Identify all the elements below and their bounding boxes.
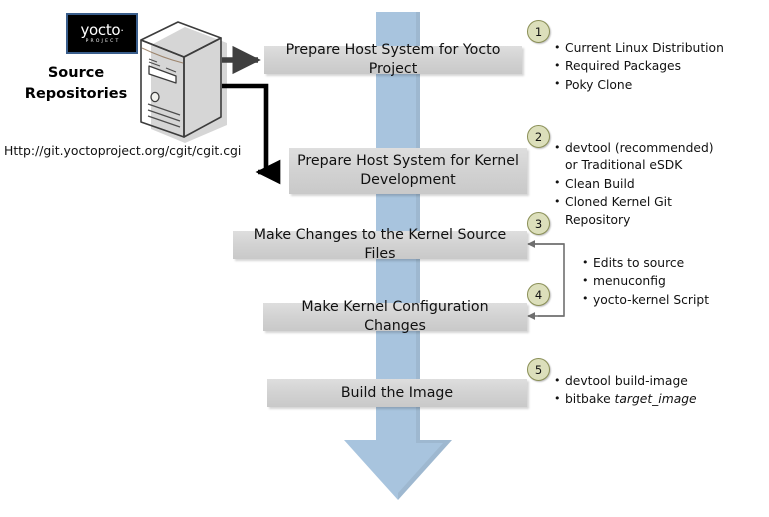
- step-number-circle-4: 4: [527, 283, 550, 306]
- note-item-italic-arg: target_image: [615, 392, 697, 406]
- process-box-step-1[interactable]: Prepare Host System for Yocto Project: [264, 46, 522, 74]
- process-box-step-4-label: Make Kernel Configuration Changes: [271, 298, 519, 335]
- process-box-step-2[interactable]: Prepare Host System for Kernel Developme…: [289, 148, 527, 194]
- process-box-step-3-label: Make Changes to the Kernel Source Files: [241, 226, 519, 263]
- connector-server-to-step2: [222, 86, 266, 172]
- step-number-1-text: 1: [535, 25, 542, 39]
- notes-step-5: devtool build-image bitbake target_image: [552, 373, 752, 410]
- process-box-step-5-label: Build the Image: [341, 384, 453, 403]
- yocto-project-logo: yocto· PROJECT: [66, 13, 138, 54]
- notes-step-3-and-4-list: Edits to source menuconfig yocto-kernel …: [580, 255, 769, 309]
- step-number-3-text: 3: [535, 217, 542, 231]
- source-repository-url: Http://git.yoctoproject.org/cgit/cgit.cg…: [4, 143, 240, 158]
- note-item: Cloned Kernel Git Repository: [565, 194, 720, 229]
- note-item: Edits to source: [593, 255, 769, 272]
- process-box-step-4[interactable]: Make Kernel Configuration Changes: [263, 303, 527, 331]
- process-box-step-5[interactable]: Build the Image: [267, 379, 527, 407]
- note-item: yocto-kernel Script: [593, 292, 769, 309]
- server-icon: [141, 22, 227, 143]
- yocto-logo-dot: ·: [120, 24, 123, 37]
- notes-step-1-list: Current Linux Distribution Required Pack…: [552, 40, 762, 94]
- note-item-text: bitbake: [565, 392, 615, 406]
- yocto-logo-wordmark: yocto·: [80, 23, 123, 38]
- yocto-logo-word-text: yocto: [80, 21, 120, 39]
- notes-step-1: Current Linux Distribution Required Pack…: [552, 40, 762, 95]
- step-number-5-text: 5: [535, 363, 542, 377]
- step-number-circle-1: 1: [527, 20, 550, 43]
- process-box-step-3[interactable]: Make Changes to the Kernel Source Files: [233, 231, 527, 259]
- diagram-canvas: yocto· PROJECT Source Repositories Http:…: [0, 0, 769, 517]
- note-item: menuconfig: [593, 273, 769, 290]
- source-label-line-1: Source: [12, 63, 140, 84]
- notes-step-2: devtool (recommended) or Traditional eSD…: [552, 140, 720, 230]
- note-item-with-emphasis: bitbake target_image: [565, 391, 752, 408]
- yocto-logo-subtitle: PROJECT: [86, 40, 121, 45]
- step-number-circle-2: 2: [527, 125, 550, 148]
- note-item: Current Linux Distribution: [565, 40, 762, 57]
- notes-step-5-list: devtool build-image bitbake target_image: [552, 373, 752, 409]
- source-label-line-2: Repositories: [12, 84, 140, 105]
- step-number-2-text: 2: [535, 130, 542, 144]
- notes-step-3-and-4: Edits to source menuconfig yocto-kernel …: [580, 255, 769, 310]
- note-item: Clean Build: [565, 176, 720, 193]
- step-number-4-text: 4: [535, 288, 542, 302]
- source-repositories-label: Source Repositories: [12, 63, 140, 105]
- note-item: devtool (recommended) or Traditional eSD…: [565, 140, 720, 175]
- note-item: devtool build-image: [565, 373, 752, 390]
- note-item: Poky Clone: [565, 77, 762, 94]
- step-number-circle-5: 5: [527, 358, 550, 381]
- process-box-step-2-label: Prepare Host System for Kernel Developme…: [297, 152, 519, 189]
- process-box-step-1-label: Prepare Host System for Yocto Project: [272, 41, 514, 78]
- step-number-circle-3: 3: [527, 212, 550, 235]
- notes-step-2-list: devtool (recommended) or Traditional eSD…: [552, 140, 720, 229]
- note-item: Required Packages: [565, 58, 762, 75]
